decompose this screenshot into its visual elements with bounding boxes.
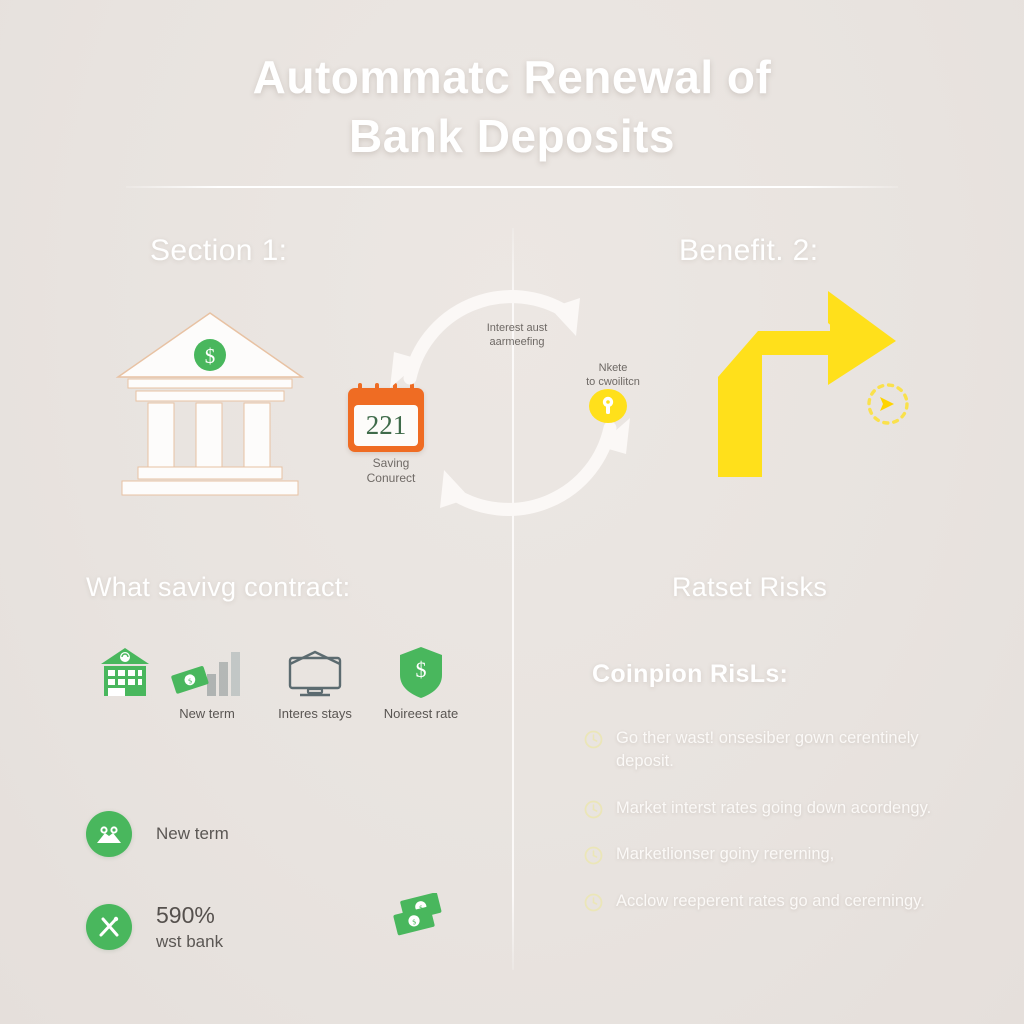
feature-label-1: New term <box>152 706 262 721</box>
list-item-label: New term <box>156 823 229 846</box>
title-line-1: Autommatc Renewal of <box>253 51 772 103</box>
handshake-circle-icon <box>86 811 132 857</box>
title-divider-rule <box>126 186 898 188</box>
list-item: New term <box>86 811 229 857</box>
benefit-2-heading: Benefit. 2: <box>679 234 819 268</box>
list-item: 590% wst bank <box>86 900 223 954</box>
saving-contract-heading: What savivg contract: <box>86 572 350 603</box>
cycle-label-right-line-2: to cwoilitcn <box>558 376 668 390</box>
list-item-value: 590% <box>156 900 223 931</box>
cycle-label-top-line-2: aarmeefing <box>462 336 572 350</box>
feature-label-3: Noireest rate <box>366 706 476 721</box>
page-title: Autommatc Renewal of Bank Deposits <box>0 48 1024 166</box>
cycle-label-right: Nkete to cwoilitcn <box>558 362 668 390</box>
title-line-2: Bank Deposits <box>0 107 1024 166</box>
key-bulb-icon <box>589 389 627 423</box>
list-item-label: wst bank <box>156 932 223 951</box>
feature-item-3: $ Noireest rate <box>366 642 476 721</box>
feature-label-2: Interes stays <box>260 706 370 721</box>
list-item: Marketlionser goiny rererning, <box>584 843 944 866</box>
list-item: Go ther wast! onsesiber gown cerentinely… <box>584 727 944 774</box>
cycle-label-top-line-1: Interest aust <box>462 322 572 336</box>
list-item: Acclow reeperent rates go and cererningy… <box>584 890 944 913</box>
monitor-screen-icon <box>260 642 370 700</box>
list-item-text-block: 590% wst bank <box>156 900 223 954</box>
cycle-label-right-line-1: Nkete <box>558 362 668 376</box>
risk-text: Marketlionser goiny rererning, <box>616 843 834 866</box>
risk-bullet-list: Go ther wast! onsesiber gown cerentinely… <box>584 727 944 936</box>
list-item: Market interst rates going down acordeng… <box>584 797 944 820</box>
pen-cross-circle-icon <box>86 904 132 950</box>
risk-text: Market interst rates going down acordeng… <box>616 797 931 820</box>
risk-text: Acclow reeperent rates go and cererningy… <box>616 890 925 913</box>
bank-building-icon: $ <box>112 305 308 505</box>
risk-text: Go ther wast! onsesiber gown cerentinely… <box>616 727 944 774</box>
section-1-heading: Section 1: <box>150 234 287 268</box>
shield-dollar-icon: $ <box>366 642 476 700</box>
cycle-label-top: Interest aust aarmeefing <box>462 322 572 350</box>
feature-icon-row: $ New term Interes stays $ Noireest rate <box>70 642 510 742</box>
feature-item-2: Interes stays <box>260 642 370 721</box>
dashed-circle-arrow-icon <box>862 378 914 430</box>
banknotes-icon: $ $ <box>390 893 448 939</box>
money-growth-chart-icon: $ <box>152 642 262 700</box>
clock-bullet-icon <box>584 893 603 912</box>
svg-text:$: $ <box>416 657 427 682</box>
clock-bullet-icon <box>584 800 603 819</box>
clock-bullet-icon <box>584 730 603 749</box>
svg-text:$: $ <box>205 344 216 368</box>
common-risks-heading: Coinpion RisLs: <box>592 660 788 689</box>
feature-item-1: $ New term <box>152 642 262 721</box>
clock-bullet-icon <box>584 846 603 865</box>
ratset-risks-heading: Ratset Risks <box>672 572 827 603</box>
